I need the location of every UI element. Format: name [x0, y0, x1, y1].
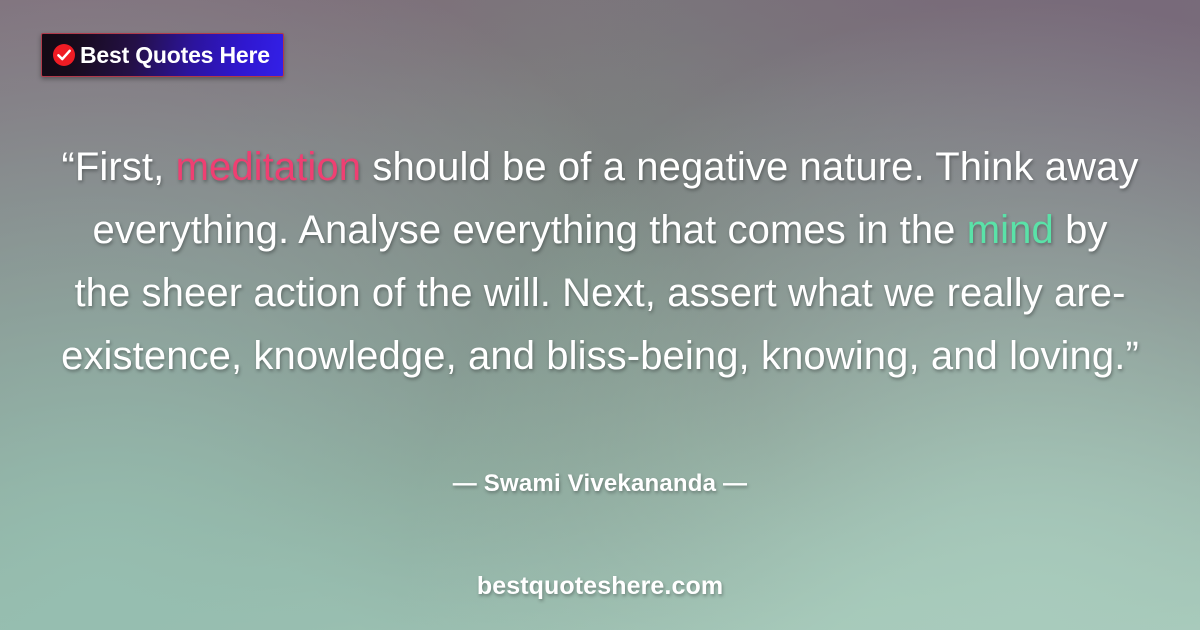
quote-attribution: — Swami Vivekananda —	[0, 470, 1200, 498]
quote-highlight-meditation: meditation	[176, 145, 362, 189]
brand-badge[interactable]: Best Quotes Here	[41, 33, 284, 77]
brand-badge-label: Best Quotes Here	[80, 44, 270, 67]
quote-poster: Best Quotes Here “First, meditation shou…	[0, 0, 1200, 630]
quote-text: “First, meditation should be of a negati…	[60, 136, 1140, 388]
site-url[interactable]: bestquoteshere.com	[0, 572, 1200, 601]
quote-highlight-mind: mind	[967, 208, 1054, 252]
quote-part-1: “First,	[61, 145, 175, 189]
check-circle-icon	[52, 43, 76, 67]
